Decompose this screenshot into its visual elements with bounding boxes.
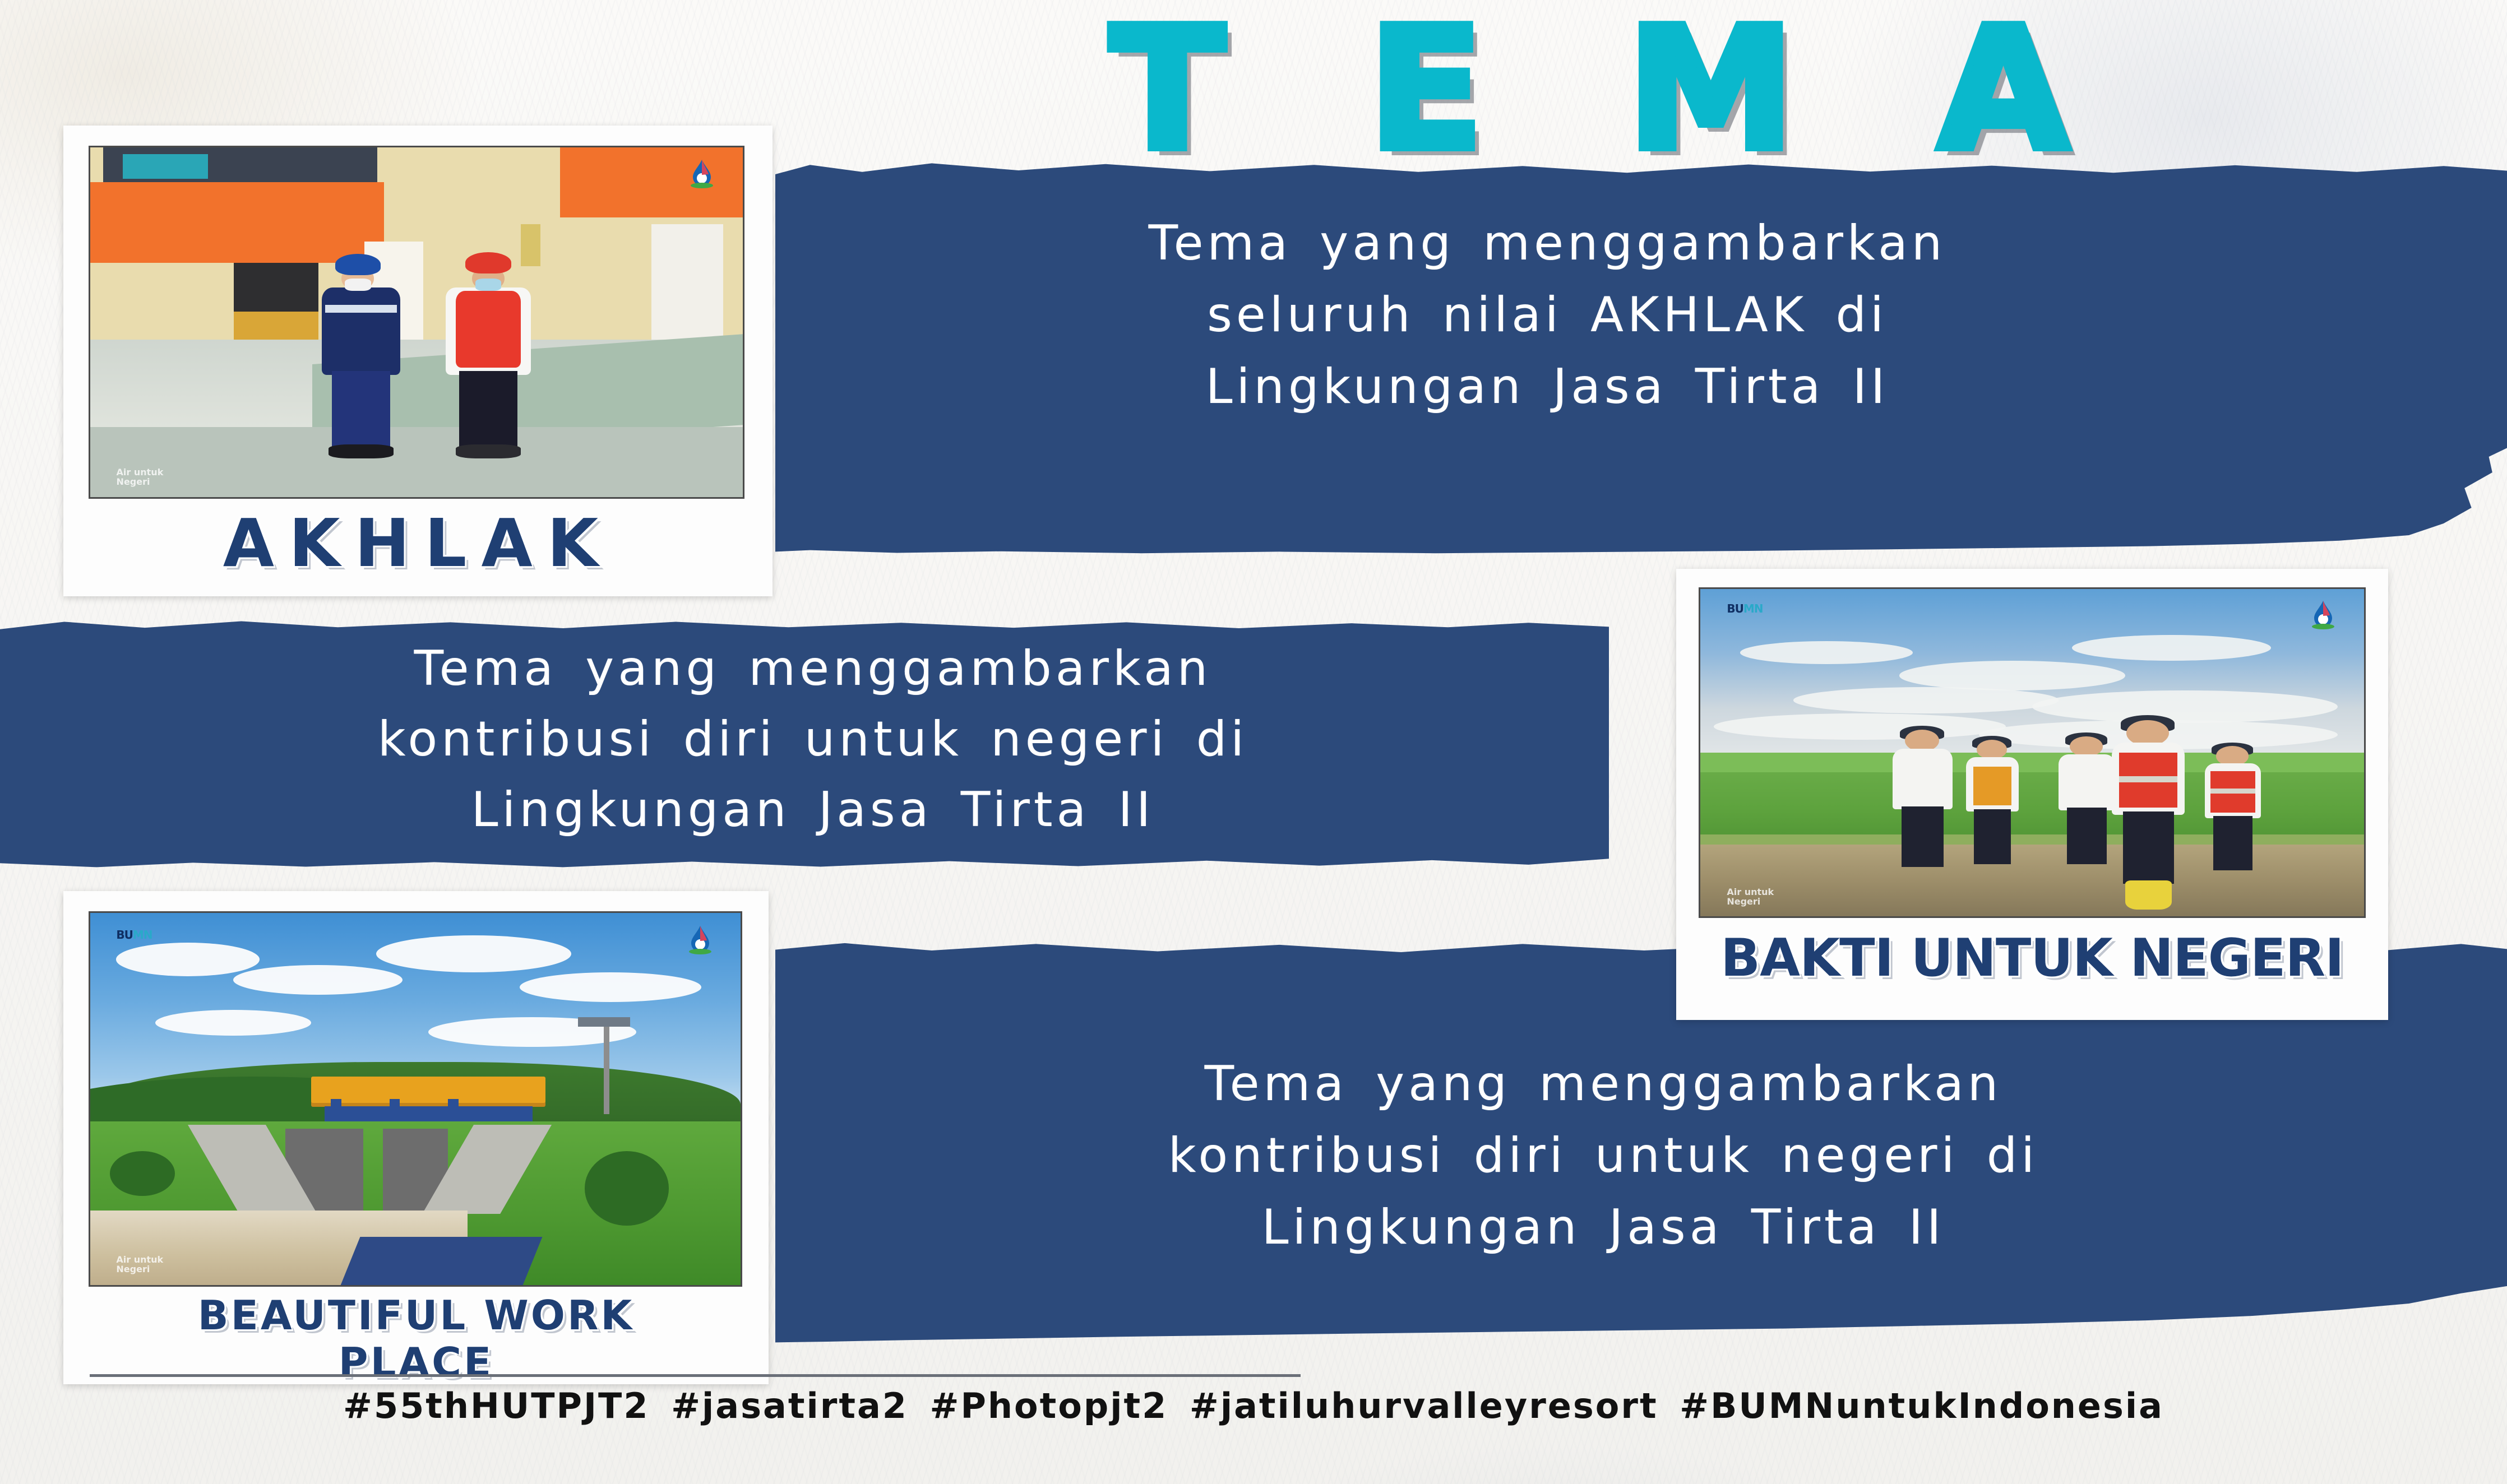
text-line: Tema yang menggambarkan (863, 1048, 2343, 1120)
footer-divider (90, 1374, 1301, 1377)
text-line: kontribusi diri untuk negeri di (56, 704, 1570, 775)
beautiful-workplace-description-text: Tema yang menggambarkan kontribusi diri … (863, 1048, 2343, 1263)
text-line: Lingkungan Jasa Tirta II (987, 351, 2108, 423)
slide-canvas: T E M A Tema yang menggambarkan seluruh … (0, 0, 2507, 1484)
bumn-logo-icon: BUMN (1727, 602, 1763, 615)
jasa-tirta-drop-logo-icon (687, 158, 716, 189)
photo-caption-beautiful-work-place: BEAUTIFUL WORK PLACE (63, 1292, 769, 1386)
caption-line: BEAUTIFUL WORK (198, 1292, 634, 1339)
photo-akhlak: Air untukNegeri (89, 146, 744, 499)
jasa-tirta-drop-logo-icon (686, 924, 715, 956)
jasa-tirta-drop-logo-icon (2309, 599, 2338, 630)
photo-card-beautiful-work-place: BUMN Air untukNegeri BEAUTIFUL WORK PLAC… (63, 891, 769, 1384)
text-line: Tema yang menggambarkan (56, 633, 1570, 704)
photo-watermark: Air untukNegeri (1727, 887, 1774, 906)
text-line: Lingkungan Jasa Tirta II (863, 1191, 2343, 1263)
page-title: T E M A (1110, 0, 2287, 185)
text-line: Lingkungan Jasa Tirta II (56, 775, 1570, 845)
bakti-description-text: Tema yang menggambarkan kontribusi diri … (56, 633, 1570, 845)
photo-card-akhlak: Air untukNegeri AKHLAK (63, 126, 773, 596)
akhlak-description-text: Tema yang menggambarkan seluruh nilai AK… (987, 207, 2108, 423)
photo-caption-bakti-untuk-negeri: BAKTI UNTUK NEGERI (1676, 928, 2388, 988)
photo-card-bakti-untuk-negeri: BUMN Air untukNegeri BAKTI UNTUK NEGERI (1676, 569, 2388, 1020)
bumn-logo-icon: BUMN (116, 928, 152, 942)
photo-caption-akhlak: AKHLAK (63, 504, 773, 582)
caption-line: PLACE (339, 1339, 493, 1386)
photo-bakti-untuk-negeri: BUMN Air untukNegeri (1699, 587, 2366, 918)
text-line: seluruh nilai AKHLAK di (987, 279, 2108, 351)
photo-watermark: Air untukNegeri (116, 1255, 163, 1274)
footer-hashtags: #55thHUTPJT2 #jasatirta2 #Photopjt2 #jat… (0, 1385, 2507, 1426)
text-line: kontribusi diri untuk negeri di (863, 1120, 2343, 1191)
photo-watermark: Air untukNegeri (117, 467, 164, 486)
text-line: Tema yang menggambarkan (987, 207, 2108, 279)
photo-beautiful-work-place: BUMN Air untukNegeri (89, 911, 742, 1287)
